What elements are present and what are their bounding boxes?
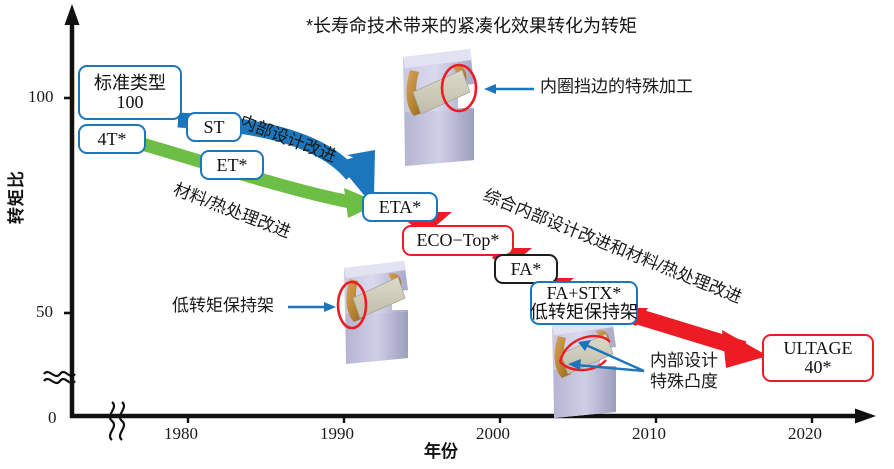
callout-inner-ring-special-machining: 内圈挡边的特殊加工 (540, 78, 693, 96)
node-eco-top[interactable]: ECO−Top* (402, 225, 514, 256)
x-axis-title: 年份 (424, 443, 458, 461)
node-ultage-line1: ULTAGE (784, 339, 853, 358)
node-eta-label: ETA* (379, 198, 422, 217)
node-ultage-40[interactable]: ULTAGE 40* (762, 334, 874, 382)
x-tick-label-1990: 1990 (320, 425, 354, 443)
node-fa-stx-line2: 低转矩保持架 (530, 303, 638, 322)
callout-internal-design-crowning-line2: 特殊凸度 (650, 373, 718, 391)
node-eco-top-label: ECO−Top* (417, 231, 500, 250)
node-eta[interactable]: ETA* (362, 192, 438, 222)
node-st[interactable]: ST (186, 112, 242, 142)
y-tick-label-50: 50 (36, 303, 53, 321)
node-standard-type[interactable]: 标准类型 100 (78, 65, 182, 120)
node-et[interactable]: ET* (200, 150, 264, 180)
callout-low-torque-cage: 低转矩保持架 (172, 297, 274, 315)
x-tick-label-2010: 2010 (632, 425, 666, 443)
node-ultage-line2: 40* (805, 358, 832, 377)
bearing-cross-section-icon-top (403, 49, 534, 166)
node-et-label: ET* (217, 156, 248, 175)
callout-internal-design-crowning-line1: 内部设计 (650, 352, 718, 370)
node-fa-stx-line1: FA+STX* (547, 284, 622, 303)
y-tick-label-0: 0 (48, 409, 57, 427)
y-tick-label-100: 100 (28, 88, 54, 106)
node-4t[interactable]: 4T* (78, 124, 146, 154)
node-fa-stx[interactable]: FA+STX* 低转矩保持架 (530, 281, 638, 325)
x-tick-label-1980: 1980 (164, 425, 198, 443)
y-axis-title: 转矩比 (8, 167, 26, 227)
node-fa-label: FA* (511, 260, 542, 279)
node-fa[interactable]: FA* (494, 254, 558, 284)
node-4t-label: 4T* (98, 130, 127, 149)
x-tick-label-2000: 2000 (476, 425, 510, 443)
bearing-cross-section-icon-bottom (552, 318, 644, 418)
torque-ratio-evolution-diagram: 100 50 0 1980 1990 2000 2010 2020 转矩比 年份… (0, 0, 894, 469)
bearing-cross-section-icon-middle (288, 261, 408, 364)
x-tick-label-2020: 2020 (788, 425, 822, 443)
node-st-label: ST (203, 118, 224, 137)
footnote-top: *长寿命技术带来的紧凑化效果转化为转矩 (306, 17, 637, 36)
node-standard-type-line2: 100 (117, 93, 144, 112)
node-standard-type-line1: 标准类型 (94, 74, 166, 93)
